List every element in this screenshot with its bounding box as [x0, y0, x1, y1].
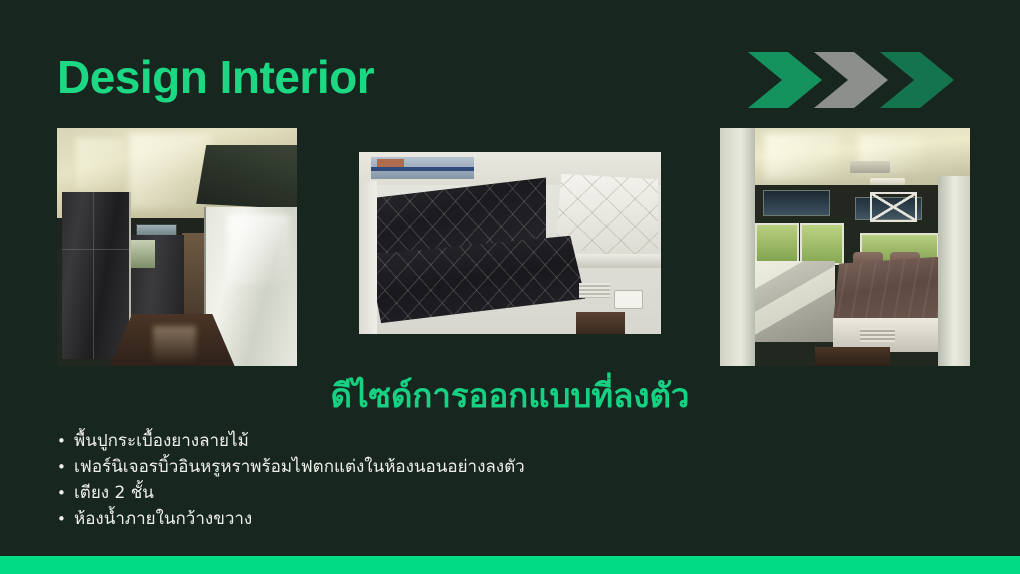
slide-canvas: Design Interior: [0, 0, 1020, 574]
photo-quilted-bench-seat: [359, 152, 661, 334]
photo-region-wood-floor: [576, 312, 624, 334]
photo-region-outlet: [614, 290, 643, 308]
photo-region-bunk-ladder: [870, 192, 917, 222]
list-item: เตียง 2 ชั้น: [57, 480, 525, 506]
photo-region-window-left-1: [755, 223, 799, 265]
photo-region-vent: [579, 283, 609, 298]
photo-camper-bedroom: [720, 128, 970, 366]
photo-region-base-vent: [860, 328, 895, 342]
photo-region-wood-floor: [815, 347, 890, 366]
chevron-decoration: [748, 52, 964, 108]
photo-region-floor-glare: [153, 326, 196, 364]
bottom-accent-bar: [0, 556, 1020, 574]
photo-camper-interior-hallway: [57, 128, 297, 366]
list-item: เฟอร์นิเจอรบิ้วอินหรูหราพร้อมไฟตกแต่งในห…: [57, 454, 525, 480]
chevron-right-icon-2: [814, 52, 888, 108]
chevron-right-icon-3: [880, 52, 954, 108]
list-item: พื้นปูกระเบื้องยางลายไม้: [57, 428, 525, 454]
photo-region-window-detail: [377, 159, 404, 166]
photo-region-window-bar: [371, 167, 474, 172]
list-item: ห้องน้ำภายในกว้างขวาง: [57, 506, 525, 532]
feature-bullet-list: พื้นปูกระเบื้องยางลายไม้ เฟอร์นิเจอรบิ้ว…: [57, 428, 525, 532]
photo-region-bench-light: [755, 261, 835, 342]
photo-region-cabinet-seam-v: [93, 192, 94, 359]
photo-region-left-panel: [720, 128, 755, 366]
photo-region-window-left-2: [800, 223, 844, 265]
photo-region-bench: [755, 261, 835, 342]
chevron-right-icon-1: [748, 52, 822, 108]
photo-region-cabinet-seam-h: [62, 249, 129, 250]
photo-region-upper-window-left: [763, 190, 830, 216]
page-title: Design Interior: [57, 48, 374, 106]
photo-region-door-glare: [227, 214, 289, 285]
photo-region-canopy: [196, 145, 297, 209]
photo-region-cabinet-tall: [62, 192, 131, 359]
photo-region-side-panel: [359, 181, 377, 334]
photo-region-ladder-cross: [872, 194, 915, 220]
photo-region-ceiling-glare: [765, 133, 840, 181]
photo-region-bed: [833, 257, 943, 328]
photo-region-right-panel: [938, 176, 971, 366]
subtitle-thai: ดีไซด์การออกแบบที่ลงตัว: [0, 374, 1020, 418]
photo-region-ceiling-glare-2: [76, 138, 124, 190]
photo-region-ac-vent: [850, 161, 890, 173]
photo-region-bed-folds: [833, 257, 943, 328]
